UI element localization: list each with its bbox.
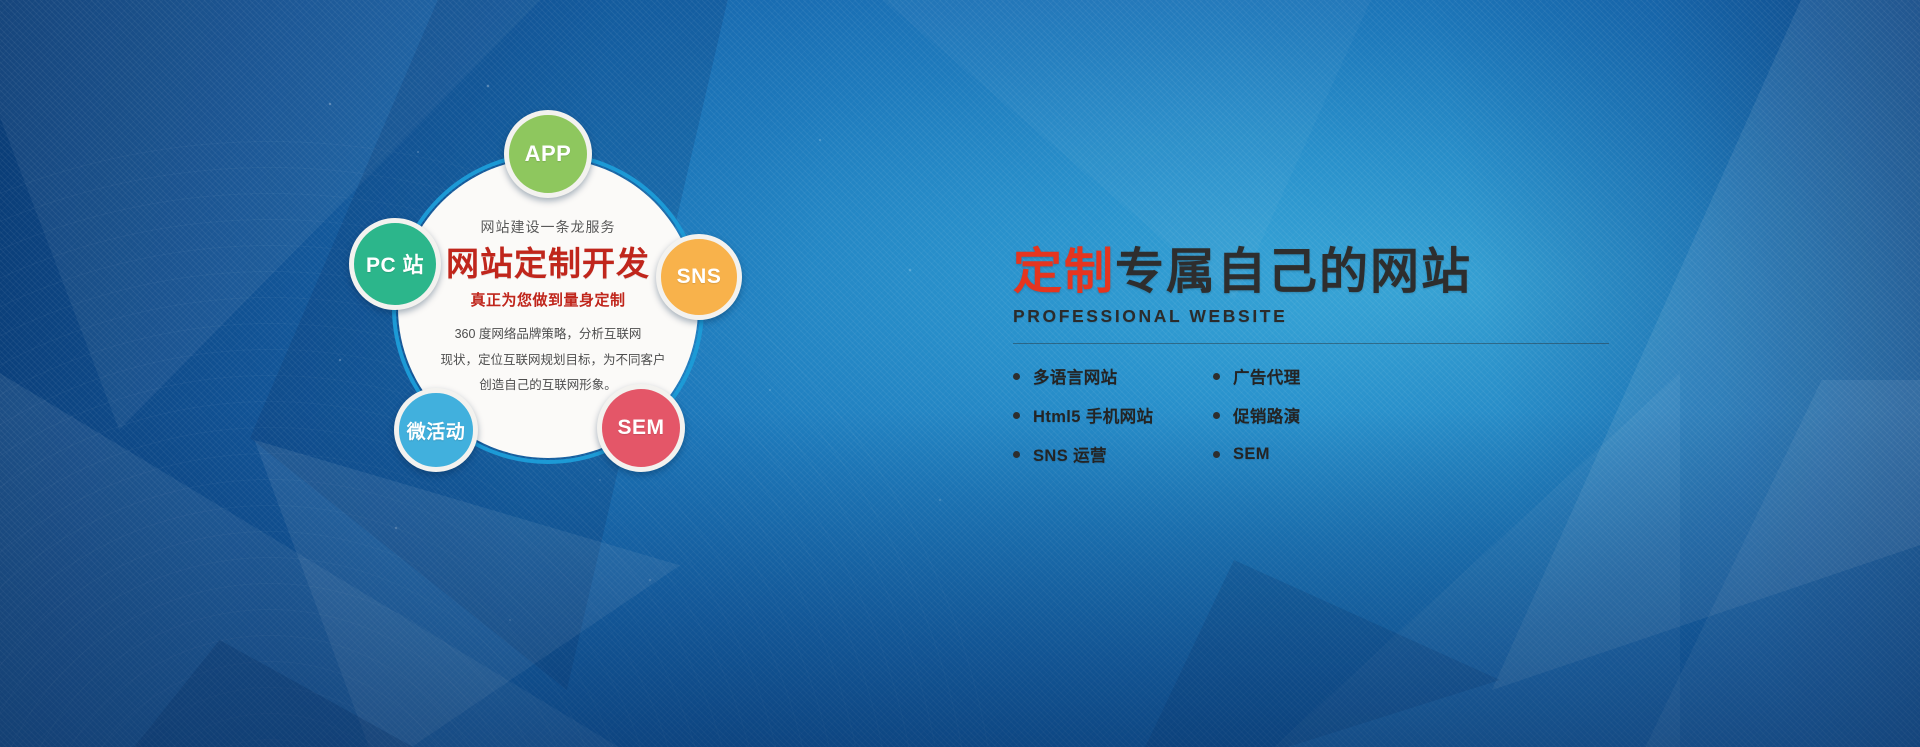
service-diagram: 网站建设一条龙服务 网站定制开发 真正为您做到量身定制 360 度网络品牌策略，… bbox=[352, 112, 744, 504]
diagram-node-label: SEM bbox=[617, 416, 664, 440]
content-divider bbox=[1013, 343, 1609, 344]
feature-item: Html5 手机网站 bbox=[1013, 403, 1213, 427]
diagram-node-sem[interactable]: SEM bbox=[597, 384, 685, 472]
bullet-icon bbox=[1013, 373, 1020, 380]
headline: 定制专属自己的网站 bbox=[1013, 248, 1633, 297]
headline-rest: 专属自己的网站 bbox=[1115, 245, 1472, 299]
diagram-node-label: APP bbox=[525, 141, 572, 167]
diagram-description-line: 360 度网络品牌策略，分析互联网 bbox=[441, 322, 656, 348]
feature-label: SNS 运营 bbox=[1033, 442, 1107, 466]
banner-content: 定制专属自己的网站 PROFESSIONAL WEBSITE 多语言网站 广告代… bbox=[1013, 248, 1633, 466]
diagram-description-line: 现状，定位互联网规划目标，为不同客户 bbox=[441, 348, 656, 374]
feature-label: 多语言网站 bbox=[1033, 364, 1118, 388]
feature-list: 多语言网站 广告代理 Html5 手机网站 促销路演 SNS 运营 SEM bbox=[1013, 364, 1633, 466]
diagram-node-label: SNS bbox=[677, 265, 722, 289]
feature-item: SEM bbox=[1213, 442, 1633, 466]
diagram-eyebrow: 网站建设一条龙服务 bbox=[481, 217, 616, 237]
feature-item: SNS 运营 bbox=[1013, 442, 1213, 466]
feature-label: 广告代理 bbox=[1233, 364, 1301, 388]
bullet-icon bbox=[1013, 451, 1020, 458]
feature-item: 广告代理 bbox=[1213, 364, 1633, 388]
promo-banner: 网站建设一条龙服务 网站定制开发 真正为您做到量身定制 360 度网络品牌策略，… bbox=[0, 0, 1920, 747]
feature-label: SEM bbox=[1233, 445, 1270, 464]
diagram-node-label: PC 站 bbox=[366, 249, 424, 279]
diagram-node-pc[interactable]: PC 站 bbox=[349, 218, 441, 310]
bullet-icon bbox=[1213, 412, 1220, 419]
feature-label: 促销路演 bbox=[1233, 403, 1301, 427]
diagram-node-weihuodong[interactable]: 微活动 bbox=[394, 388, 478, 472]
feature-item: 多语言网站 bbox=[1013, 364, 1213, 388]
subheadline: PROFESSIONAL WEBSITE bbox=[1013, 306, 1633, 327]
diagram-title: 网站定制开发 bbox=[446, 247, 650, 282]
bullet-icon bbox=[1213, 451, 1220, 458]
diagram-node-sns[interactable]: SNS bbox=[656, 234, 742, 320]
feature-label: Html5 手机网站 bbox=[1033, 403, 1153, 427]
diagram-slogan: 真正为您做到量身定制 bbox=[470, 289, 625, 310]
feature-item: 促销路演 bbox=[1213, 403, 1633, 427]
diagram-node-app[interactable]: APP bbox=[504, 110, 592, 198]
diagram-node-label: 微活动 bbox=[407, 417, 466, 444]
bullet-icon bbox=[1013, 412, 1020, 419]
headline-accent: 定制 bbox=[1013, 245, 1115, 299]
bullet-icon bbox=[1213, 373, 1220, 380]
